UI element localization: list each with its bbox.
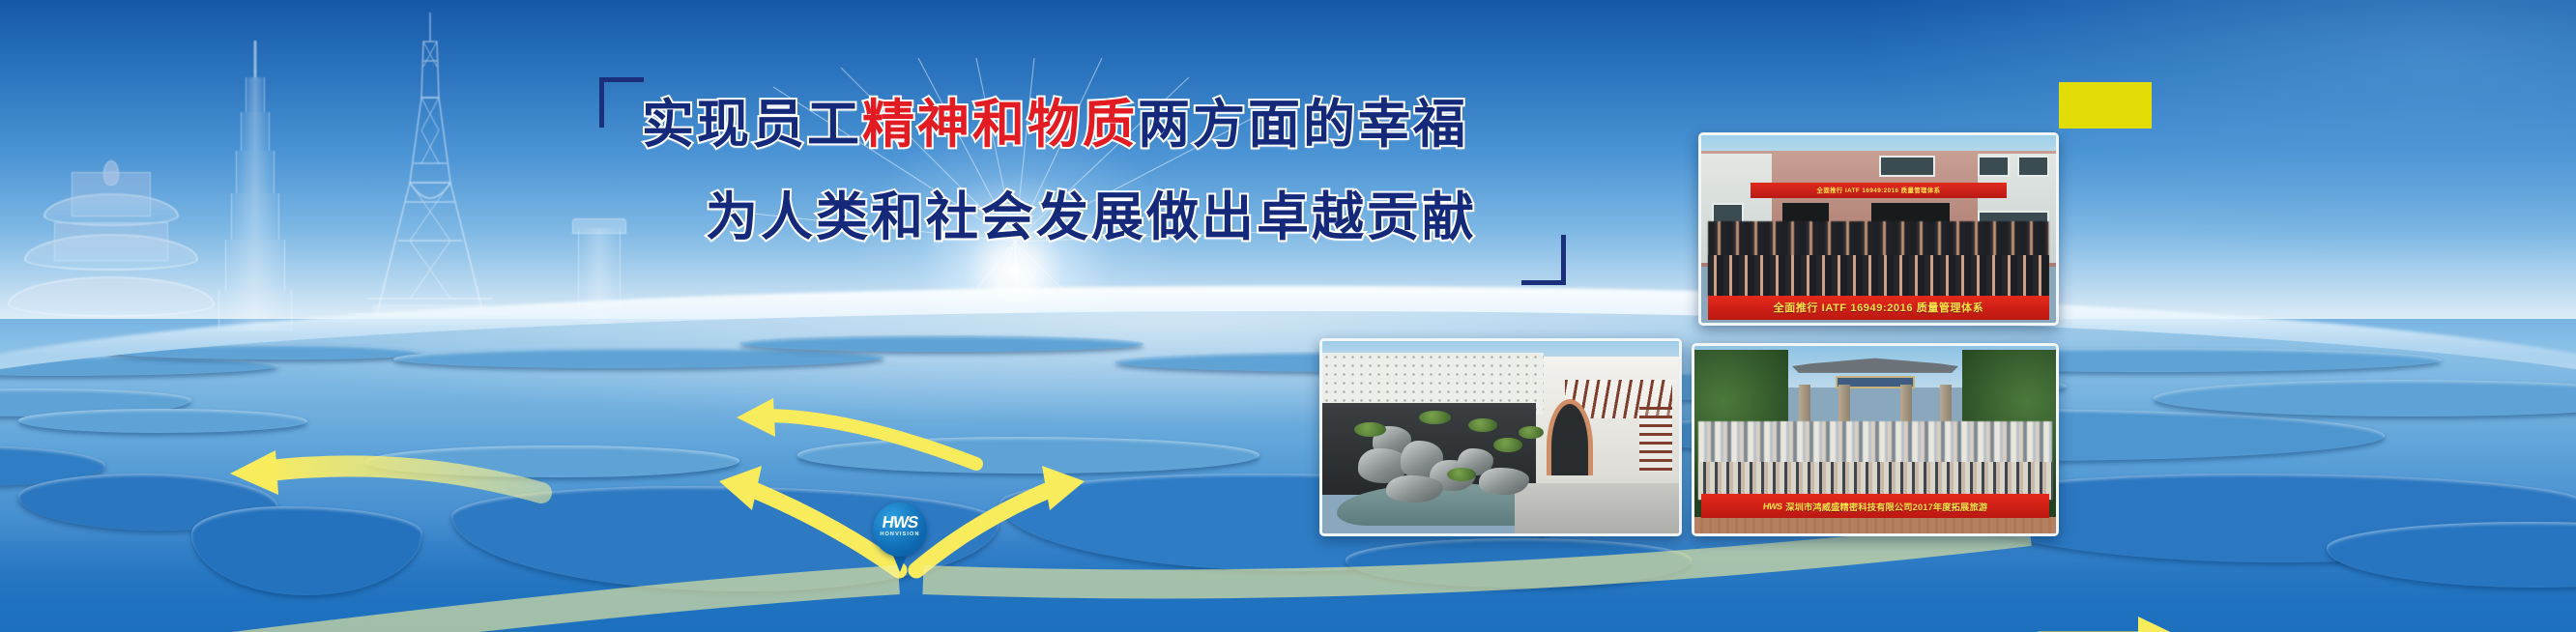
photo-team-banner-top-text: 全面推行 IATF 16949:2016 质量管理体系 — [1817, 186, 1941, 194]
globe-ocean — [0, 311, 2576, 632]
photo-trip-banner-text: 深圳市鸿威盛精密科技有限公司2017年度拓展旅游 — [1785, 500, 1987, 513]
eiffel-tower-icon — [338, 9, 522, 342]
slogan-line-2: 为人类和社会发展做出卓越贡献 — [706, 191, 1477, 244]
jinmao-tower-icon — [211, 41, 300, 330]
bracket-top-left — [599, 77, 644, 128]
photo-team-iatf[interactable]: 全面推行 IATF 16949:2016 质量管理体系 全面推行 IATF 16… — [1698, 132, 2059, 326]
slogan-block: 实现员工精神和物质两方面的幸福 为人类和社会发展做出卓越贡献 — [599, 77, 1566, 285]
photo-team-banner-bottom: 全面推行 IATF 16949:2016 质量管理体系 — [1708, 296, 2048, 320]
photo-trip-banner-logo: HWS — [1762, 502, 1782, 511]
accent-rectangle — [2059, 82, 2152, 129]
photo-company-trip-2017[interactable]: HWS 深圳市鸿威盛精密科技有限公司2017年度拓展旅游 — [1692, 343, 2059, 536]
brand-name: HONVISION — [873, 531, 927, 538]
slogan-line1-part1: 实现员工 — [642, 94, 862, 155]
photo-team-banner-bottom-text: 全面推行 IATF 16949:2016 质量管理体系 — [1774, 300, 1984, 315]
temple-of-heaven-icon — [10, 171, 213, 330]
corporate-banner: HWS HONVISION 实现员工精神和物质两方面的幸福 为人类和社会发展做出… — [0, 0, 2576, 632]
photo-trip-banner: HWS 深圳市鸿威盛精密科技有限公司2017年度拓展旅游 — [1701, 494, 2048, 518]
honvision-location-pin: HWS HONVISION — [873, 503, 927, 572]
bracket-bottom-right — [1521, 235, 1566, 285]
brand-mark: HWS — [872, 516, 928, 530]
photo-team-banner-top: 全面推行 IATF 16949:2016 质量管理体系 — [1751, 183, 2006, 198]
slogan-line1-part2: 两方面的幸福 — [1138, 94, 1468, 155]
slogan-line2-text: 为人类和社会发展做出卓越贡献 — [706, 187, 1477, 247]
slogan-line1-highlight: 精神和物质 — [862, 94, 1138, 155]
photo-company-garden[interactable] — [1319, 338, 1682, 536]
slogan-line-1: 实现员工精神和物质两方面的幸福 — [642, 99, 1468, 151]
